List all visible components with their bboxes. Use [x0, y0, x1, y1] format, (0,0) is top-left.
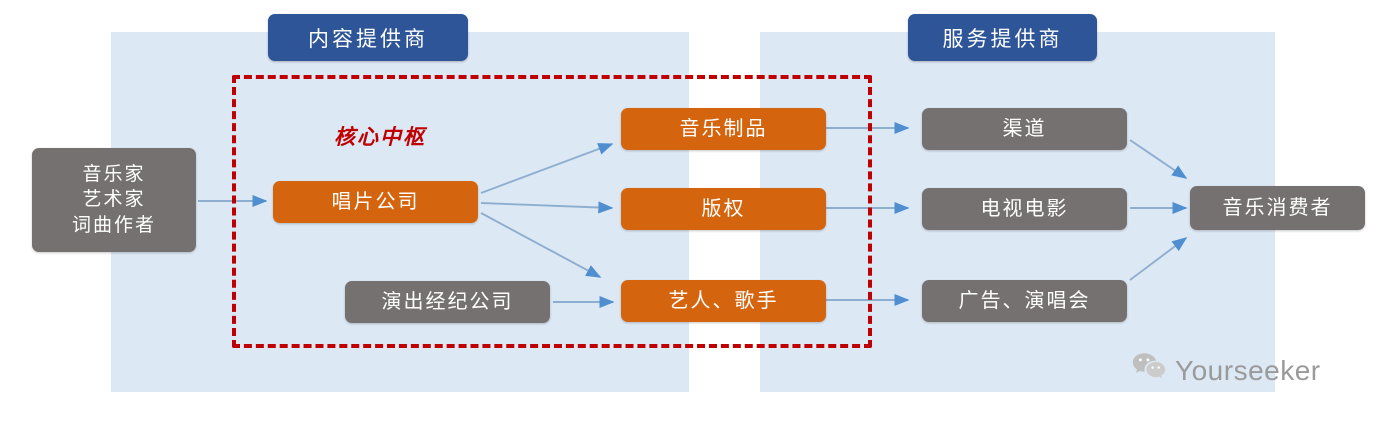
header-service-provider-label: 服务提供商 [943, 23, 1063, 53]
node-music-products-text: 音乐制品 [680, 116, 768, 143]
node-ads-concerts[interactable]: 广告、演唱会 [922, 280, 1127, 322]
node-record-label-text: 唱片公司 [332, 189, 420, 216]
node-channel-text: 渠道 [1003, 116, 1047, 143]
node-agency-text: 演出经纪公司 [382, 289, 514, 316]
header-service-provider[interactable]: 服务提供商 [908, 14, 1097, 61]
node-music-products[interactable]: 音乐制品 [621, 108, 826, 150]
diagram-canvas: 音乐家 艺术家 词曲作者 核心中枢 唱片公司 演出经纪公司 音乐制品 版权 艺人… [0, 0, 1397, 427]
header-content-provider-label: 内容提供商 [308, 23, 428, 53]
node-ads-concerts-text: 广告、演唱会 [959, 288, 1091, 315]
node-creators-line-1: 音乐家 [82, 162, 145, 188]
header-content-provider[interactable]: 内容提供商 [268, 14, 468, 61]
node-artists-singers[interactable]: 艺人、歌手 [621, 280, 826, 322]
node-artists-singers-text: 艺人、歌手 [669, 288, 779, 315]
node-channel[interactable]: 渠道 [922, 108, 1127, 150]
node-creators[interactable]: 音乐家 艺术家 词曲作者 [32, 148, 196, 252]
wechat-icon [1132, 352, 1166, 389]
node-copyright-text: 版权 [702, 196, 746, 223]
node-agency[interactable]: 演出经纪公司 [345, 281, 550, 323]
node-consumers[interactable]: 音乐消费者 [1190, 186, 1365, 230]
node-tv-film[interactable]: 电视电影 [922, 188, 1127, 230]
core-hub-label: 核心中枢 [334, 121, 426, 151]
node-copyright[interactable]: 版权 [621, 188, 826, 230]
node-creators-line-2: 艺术家 [82, 187, 145, 213]
node-tv-film-text: 电视电影 [981, 196, 1069, 223]
node-creators-line-3: 词曲作者 [72, 213, 156, 239]
watermark: Yourseeker [1132, 352, 1321, 389]
watermark-text: Yourseeker [1175, 355, 1321, 387]
node-record-label[interactable]: 唱片公司 [273, 181, 478, 223]
node-consumers-text: 音乐消费者 [1223, 195, 1333, 222]
